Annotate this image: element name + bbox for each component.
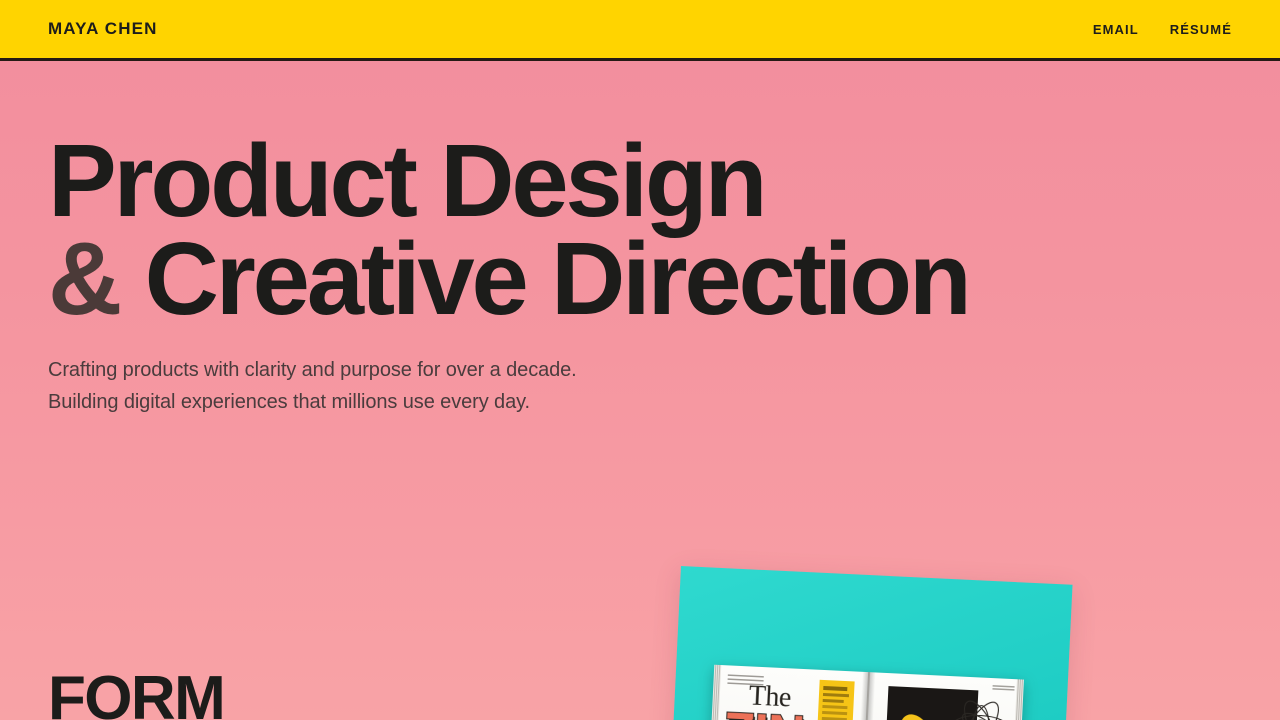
magazine-page-right bbox=[861, 672, 1024, 720]
zine-title-word: ZIN bbox=[722, 705, 805, 720]
primary-nav: EMAIL RÉSUMÉ bbox=[1093, 22, 1232, 37]
brand-wordmark[interactable]: MAYA CHEN bbox=[48, 19, 158, 39]
headline-line-2: & Creative Direction bbox=[48, 230, 969, 328]
subtitle-line-1: Crafting products with clarity and purpo… bbox=[48, 354, 577, 386]
pear-shape-icon bbox=[892, 709, 938, 720]
nav-link-resume[interactable]: RÉSUMÉ bbox=[1170, 22, 1232, 37]
site-header: MAYA CHEN EMAIL RÉSUMÉ bbox=[0, 0, 1280, 61]
atom-diagram-icon bbox=[948, 694, 1013, 720]
subtitle-line-2: Building digital experiences that millio… bbox=[48, 386, 577, 418]
ampersand-glyph: & bbox=[48, 221, 119, 336]
hero-subtitle: Crafting products with clarity and purpo… bbox=[48, 354, 577, 419]
page-number-lines bbox=[992, 685, 1014, 691]
nav-link-email[interactable]: EMAIL bbox=[1093, 22, 1139, 37]
section-heading-form: FORM bbox=[48, 668, 224, 720]
hero-section: Product Design & Creative Direction Craf… bbox=[0, 0, 1280, 720]
yellow-text-column bbox=[813, 680, 855, 720]
magazine-page-left: The ZIN bbox=[706, 665, 869, 720]
headline-line-2-text: Creative Direction bbox=[119, 221, 968, 336]
hero-photo: The ZIN bbox=[669, 566, 1073, 720]
page-root: MAYA CHEN EMAIL RÉSUMÉ Product Design & … bbox=[0, 0, 1280, 720]
page-title: Product Design & Creative Direction bbox=[48, 132, 969, 328]
